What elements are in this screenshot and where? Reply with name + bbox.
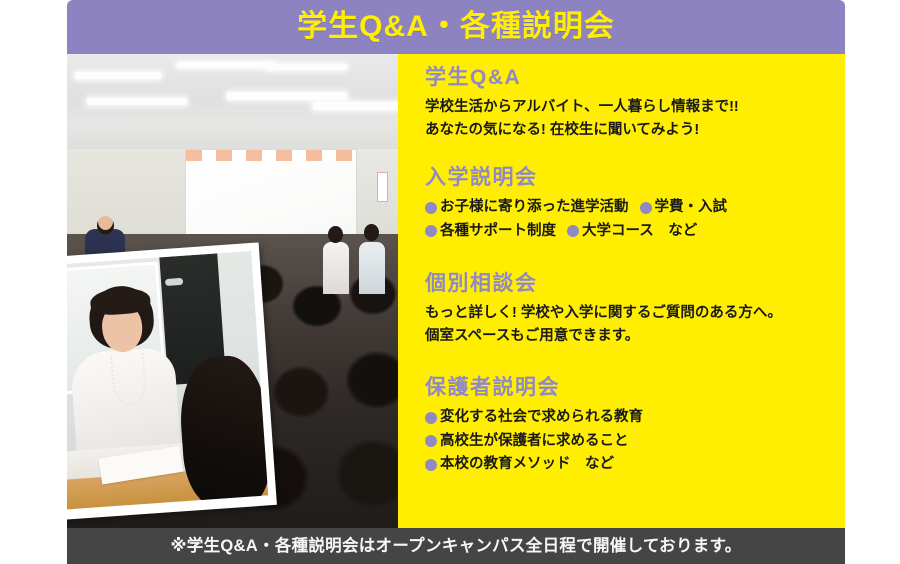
section-line: もっと詳しく! 学校や入学に関するご質問のある方へ。 [425, 302, 782, 324]
bullet-row: 変化する社会で求められる教育 [425, 406, 643, 429]
bullet-label: 変化する社会で求められる教育 [440, 406, 643, 429]
section-title: 個別相談会 [425, 272, 782, 295]
ceiling-light [177, 62, 273, 68]
bullet-list: 変化する社会で求められる教育 高校生が保護者に求めること 本校の教育メソッド な… [425, 406, 643, 476]
ceiling-light [227, 92, 347, 100]
bullet-label: 本校の教育メソッド など [440, 453, 614, 476]
bullet-dot-icon [640, 202, 652, 214]
ceiling-light [75, 72, 161, 79]
section-line: 個室スペースもご用意できます。 [425, 325, 782, 347]
bullet-label: お子様に寄り添った進学活動 [440, 196, 629, 219]
bullet-item: 大学コース など [567, 220, 697, 243]
footer-note: ※学生Q&A・各種説明会はオープンキャンパス全日程で開催しております。 [170, 538, 741, 555]
wall-poster [377, 172, 388, 202]
ceiling-light [313, 102, 401, 110]
section-individual-consultation: 個別相談会 もっと詳しく! 学校や入学に関するご質問のある方へ。 個室スペースも… [425, 272, 782, 347]
bullet-item: 変化する社会で求められる教育 [425, 406, 643, 429]
staff-member [323, 242, 349, 294]
presenter-head [97, 216, 114, 235]
bullet-dot-icon [425, 412, 437, 424]
bullet-item: 学費・入試 [640, 196, 728, 219]
bullet-label: 学費・入試 [655, 196, 728, 219]
counseling-photo [67, 251, 268, 510]
body-region: 学生Q&A 学校生活からアルバイト、一人暮らし情報まで!! あなたの気になる! … [67, 54, 845, 528]
bullet-row: 本校の教育メソッド など [425, 453, 643, 476]
header-bar: 学生Q&A・各種説明会 [67, 0, 845, 54]
bullet-item: お子様に寄り添った進学活動 [425, 196, 629, 219]
bullet-row: 高校生が保護者に求めること [425, 430, 643, 453]
info-panel: 学生Q&A 学校生活からアルバイト、一人暮らし情報まで!! あなたの気になる! … [398, 54, 845, 528]
counseling-photo-frame [67, 242, 277, 520]
bullet-dot-icon [425, 225, 437, 237]
bullet-item: 高校生が保護者に求めること [425, 430, 629, 453]
bullet-label: 大学コース など [582, 220, 697, 243]
ceiling-light [87, 98, 187, 105]
door-handle [165, 278, 183, 286]
section-title: 保護者説明会 [425, 376, 643, 399]
section-title: 学生Q&A [425, 66, 739, 89]
bullet-dot-icon [425, 435, 437, 447]
section-admission-briefing: 入学説明会 お子様に寄り添った進学活動 学費・入試 [425, 166, 727, 243]
page-title: 学生Q&A・各種説明会 [297, 12, 615, 42]
bullet-list: お子様に寄り添った進学活動 学費・入試 各種サポート制度 [425, 196, 727, 243]
bullet-label: 高校生が保護者に求めること [440, 430, 629, 453]
bullet-row: お子様に寄り添った進学活動 学費・入試 [425, 196, 727, 219]
promo-poster: 学生Q&A・各種説明会 [0, 0, 900, 564]
student-back-of-head [177, 353, 269, 509]
bullet-row: 各種サポート制度 大学コース など [425, 220, 727, 243]
section-line: 学校生活からアルバイト、一人暮らし情報まで!! [425, 96, 739, 118]
section-guardian-briefing: 保護者説明会 変化する社会で求められる教育 高校生が保護者に求めること [425, 376, 643, 477]
staff-head [364, 224, 379, 241]
section-line: あなたの気になる! 在校生に聞いてみよう! [425, 119, 739, 141]
staff-head [328, 226, 343, 243]
bullet-dot-icon [425, 459, 437, 471]
section-student-qa: 学生Q&A 学校生活からアルバイト、一人暮らし情報まで!! あなたの気になる! … [425, 66, 739, 141]
bullet-item: 各種サポート制度 [425, 220, 556, 243]
bullet-dot-icon [425, 202, 437, 214]
footer-bar: ※学生Q&A・各種説明会はオープンキャンパス全日程で開催しております。 [67, 528, 845, 564]
bullet-label: 各種サポート制度 [440, 220, 556, 243]
ceiling-light [267, 64, 347, 70]
staff-member [359, 242, 385, 294]
bullet-item: 本校の教育メソッド など [425, 453, 614, 476]
section-title: 入学説明会 [425, 166, 727, 189]
projection-screen-slide-bar [186, 150, 354, 161]
bullet-dot-icon [567, 225, 579, 237]
